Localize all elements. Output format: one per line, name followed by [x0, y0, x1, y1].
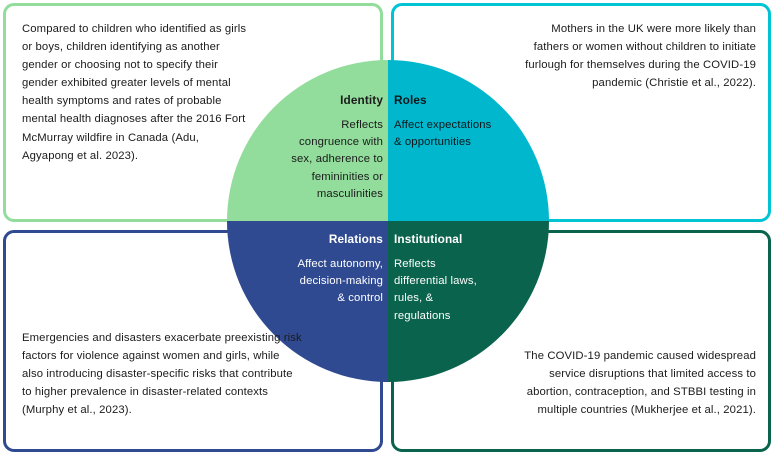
label-identity-description: Reflects congruence with sex, adherence …	[237, 117, 383, 203]
label-institutional-heading: Institutional	[394, 232, 544, 247]
evidence-identity: Compared to children who identified as g…	[22, 20, 248, 165]
label-institutional: Institutional Reflects differential laws…	[394, 232, 544, 325]
label-identity: Identity Reflects congruence with sex, a…	[237, 93, 383, 203]
label-identity-heading: Identity	[237, 93, 383, 108]
label-institutional-description: Reflects differential laws, rules, & reg…	[394, 256, 544, 325]
label-roles-heading: Roles	[394, 93, 544, 108]
diagram-canvas: Identity Reflects congruence with sex, a…	[0, 0, 774, 455]
label-relations-description: Affect autonomy, decision-making & contr…	[231, 256, 383, 308]
evidence-roles: Mothers in the UK were more likely than …	[524, 20, 756, 92]
label-relations: Relations Affect autonomy, decision-maki…	[231, 232, 383, 308]
label-roles: Roles Affect expectations & opportunitie…	[394, 93, 544, 151]
evidence-relations: Emergencies and disasters exacerbate pre…	[22, 329, 302, 419]
label-roles-description: Affect expectations & opportunities	[394, 117, 544, 151]
label-relations-heading: Relations	[231, 232, 383, 247]
evidence-institutional: The COVID-19 pandemic caused widespread …	[508, 347, 756, 419]
